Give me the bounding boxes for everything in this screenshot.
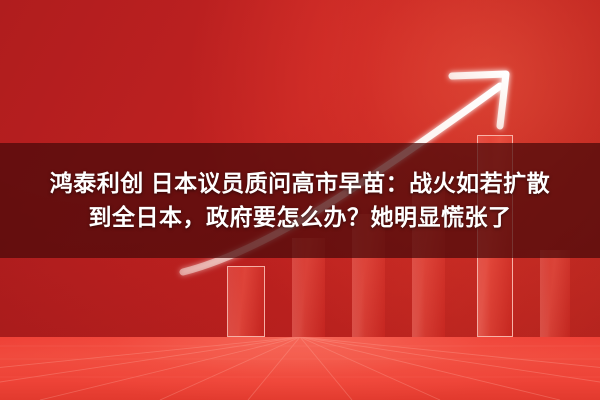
bar-highlight [228,267,242,336]
floor-grid-icon [0,337,600,400]
headline-text: 鸿泰利创 日本议员质问高市早苗：战火如若扩散 到全日本，政府要怎么办？她明显慌张… [0,143,600,258]
headline-line-2: 到全日本，政府要怎么办？她明显慌张了 [89,203,512,232]
bar-highlight [540,250,551,337]
perspective-floor [0,337,600,400]
chart-bar-6 [540,250,570,337]
chart-bar-1 [227,266,265,337]
banner-image: 鸿泰利创 日本议员质问高市早苗：战火如若扩散 到全日本，政府要怎么办？她明显慌张… [0,0,600,400]
headline-line-1: 鸿泰利创 日本议员质问高市早苗：战火如若扩散 [50,169,550,198]
